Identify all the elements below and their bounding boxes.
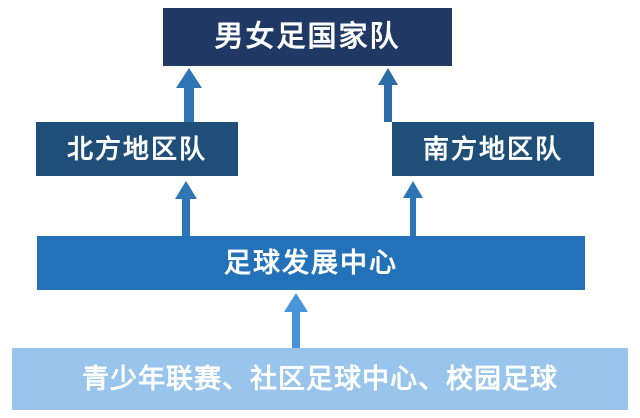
node-region-south-label: 南方地区队 xyxy=(423,136,563,162)
node-region-north: 北方地区队 xyxy=(36,122,238,176)
arrow-north-to-national-icon xyxy=(176,68,202,122)
node-development-center: 足球发展中心 xyxy=(37,236,585,290)
node-region-north-label: 北方地区队 xyxy=(67,136,207,162)
node-grassroots-label: 青少年联赛、社区足球中心、校园足球 xyxy=(82,366,558,393)
arrow-south-to-national-icon xyxy=(378,68,398,122)
arrow-center-to-south-icon xyxy=(403,181,423,237)
football-pyramid-diagram: 男女足国家队 北方地区队 南方地区队 足球发展中心 xyxy=(0,0,640,418)
arrow-center-to-north-icon xyxy=(175,181,197,237)
node-national-team-label: 男女足国家队 xyxy=(214,23,400,52)
node-region-south: 南方地区队 xyxy=(392,122,594,176)
node-national-team: 男女足国家队 xyxy=(163,8,452,66)
node-grassroots: 青少年联赛、社区足球中心、校园足球 xyxy=(12,348,628,410)
node-development-center-label: 足球发展中心 xyxy=(224,250,398,277)
arrow-grassroots-to-center-icon xyxy=(284,293,308,351)
